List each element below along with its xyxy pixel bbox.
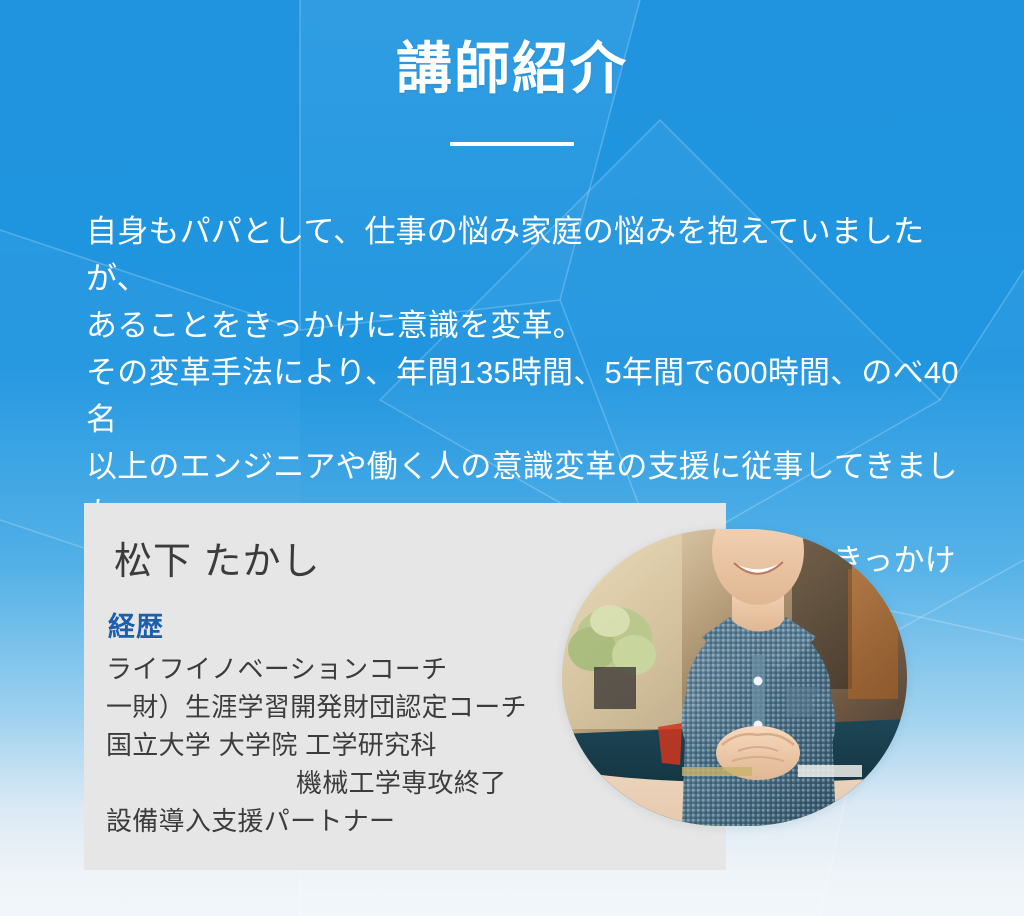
title-divider [450,142,574,146]
lead-line-2: あることをきっかけに意識を変革。 [86,302,966,349]
career-item: 設備導入支援パートナー [106,802,706,840]
lead-line-3: その変革手法により、年間135時間、5年間で600時間、のべ40名 [86,349,966,443]
career-heading: 経歴 [108,605,164,644]
portrait-illustration [562,529,907,826]
instructor-name: 松下 たかし [114,530,321,585]
slide-header: 講師紹介 [0,0,1024,146]
page-title: 講師紹介 [0,0,1024,100]
instructor-portrait-photo [562,529,907,826]
lead-line-1: 自身もパパとして、仕事の悩み家庭の悩みを抱えていましたが、 [86,208,966,302]
instructor-introduction-slide: 講師紹介 自身もパパとして、仕事の悩み家庭の悩みを抱えていましたが、 あることを… [0,0,1024,916]
